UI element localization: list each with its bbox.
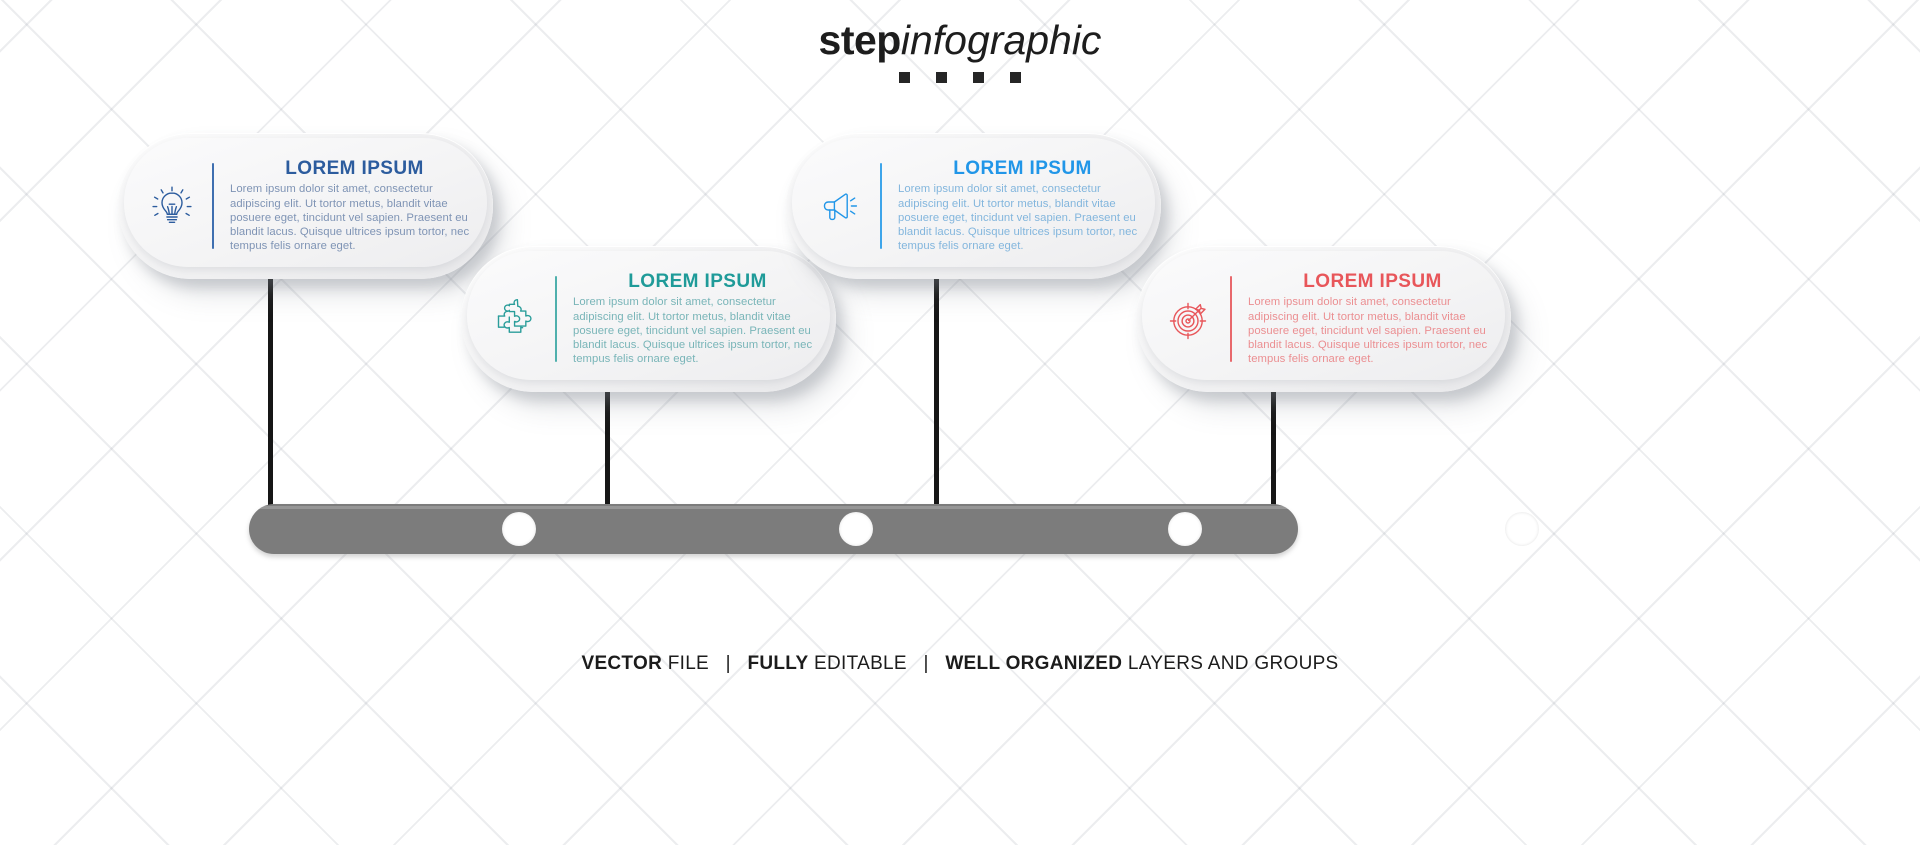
lightbulb-icon bbox=[144, 178, 200, 234]
page-header: stepinfographic bbox=[0, 14, 1920, 83]
timeline-bar bbox=[249, 504, 1298, 554]
step-card-3[interactable]: LOREM IPSUM Lorem ipsum dolor sit amet, … bbox=[786, 133, 1161, 279]
card-title: LOREM IPSUM bbox=[230, 158, 479, 180]
timeline-node-1[interactable] bbox=[502, 512, 536, 546]
connector-line-1 bbox=[268, 262, 273, 528]
footer-vector-bold: VECTOR bbox=[581, 653, 662, 674]
card-title: LOREM IPSUM bbox=[898, 158, 1147, 180]
page-title-strong: step bbox=[819, 17, 901, 63]
card-body: Lorem ipsum dolor sit amet, consectetur … bbox=[230, 182, 479, 253]
step-card-2[interactable]: LOREM IPSUM Lorem ipsum dolor sit amet, … bbox=[461, 246, 836, 392]
card-body: Lorem ipsum dolor sit amet, consectetur … bbox=[573, 295, 822, 366]
card-divider bbox=[1230, 276, 1232, 362]
footer-separator-1: | bbox=[715, 653, 742, 674]
footer-fully-bold: FULLY bbox=[747, 653, 808, 674]
megaphone-icon bbox=[812, 178, 868, 234]
card-text: LOREM IPSUM Lorem ipsum dolor sit amet, … bbox=[898, 158, 1147, 253]
step-card-1[interactable]: LOREM IPSUM Lorem ipsum dolor sit amet, … bbox=[118, 133, 493, 279]
title-dot bbox=[936, 72, 947, 83]
step-card-4[interactable]: LOREM IPSUM Lorem ipsum dolor sit amet, … bbox=[1136, 246, 1511, 392]
footer-wellorganized-bold: WELL ORGANIZED bbox=[945, 653, 1122, 674]
card-divider bbox=[880, 163, 882, 249]
timeline-node-4[interactable] bbox=[1505, 512, 1539, 546]
connector-line-3 bbox=[934, 262, 939, 528]
target-icon bbox=[1162, 291, 1218, 347]
footer-file-light: FILE bbox=[668, 653, 709, 674]
title-dots bbox=[0, 72, 1920, 83]
footer-separator-2: | bbox=[912, 653, 939, 674]
title-dot bbox=[1010, 72, 1021, 83]
background-pattern bbox=[0, 0, 1920, 845]
card-body: Lorem ipsum dolor sit amet, consectetur … bbox=[1248, 295, 1497, 366]
card-body: Lorem ipsum dolor sit amet, consectetur … bbox=[898, 182, 1147, 253]
timeline-node-3[interactable] bbox=[1168, 512, 1202, 546]
card-text: LOREM IPSUM Lorem ipsum dolor sit amet, … bbox=[230, 158, 479, 253]
card-text: LOREM IPSUM Lorem ipsum dolor sit amet, … bbox=[1248, 271, 1497, 366]
footer-layers-light: LAYERS AND GROUPS bbox=[1128, 653, 1339, 674]
page-title: stepinfographic bbox=[0, 14, 1920, 66]
page-title-light: infographic bbox=[901, 17, 1102, 63]
timeline-node-2[interactable] bbox=[839, 512, 873, 546]
footer-editable-light: EDITABLE bbox=[814, 653, 907, 674]
card-text: LOREM IPSUM Lorem ipsum dolor sit amet, … bbox=[573, 271, 822, 366]
card-title: LOREM IPSUM bbox=[573, 271, 822, 293]
card-divider bbox=[555, 276, 557, 362]
puzzle-icon bbox=[487, 291, 543, 347]
footer-caption: VECTOR FILE | FULLY EDITABLE | WELL ORGA… bbox=[0, 652, 1920, 676]
card-divider bbox=[212, 163, 214, 249]
card-title: LOREM IPSUM bbox=[1248, 271, 1497, 293]
title-dot bbox=[899, 72, 910, 83]
title-dot bbox=[973, 72, 984, 83]
